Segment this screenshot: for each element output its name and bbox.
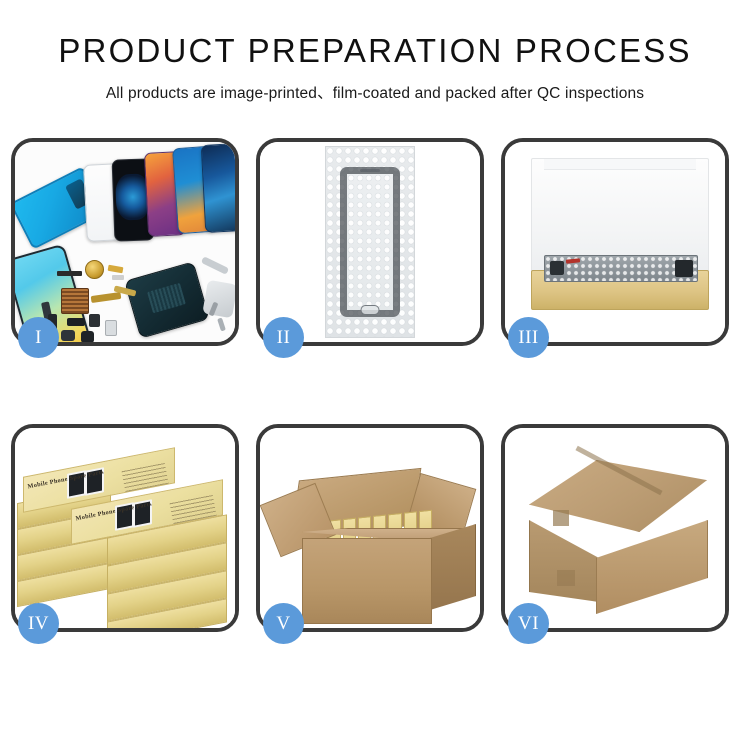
process-step-5[interactable]: V <box>256 424 484 632</box>
small-part-2 <box>67 318 85 326</box>
small-part-5 <box>81 331 94 342</box>
small-part-3 <box>89 314 100 327</box>
misc-part-cluster <box>202 280 235 319</box>
carton-side-panel <box>430 524 476 610</box>
gold-coil-part <box>85 260 104 279</box>
step-1-image <box>15 142 235 342</box>
flex-cable-1 <box>91 292 122 303</box>
earpiece-slot <box>360 169 380 172</box>
process-step-2[interactable]: II <box>256 138 484 346</box>
page-subtitle: All products are image-printed、film-coat… <box>0 81 750 103</box>
step-badge-3: III <box>508 317 549 358</box>
bubble-wrap-scene <box>260 142 480 342</box>
wrapped-screen-assembly <box>340 167 400 317</box>
page-header: PRODUCT PREPARATION PROCESS All products… <box>0 0 750 103</box>
step-badge-5: V <box>263 603 304 644</box>
process-step-6[interactable]: VI <box>501 424 729 632</box>
step-badge-4: IV <box>18 603 59 644</box>
step-2-image <box>260 142 480 342</box>
silver-clip-part <box>112 275 124 280</box>
process-step-4[interactable]: Mobile Phone Spare Parts Mobile Phone Sp… <box>11 424 239 632</box>
small-part-4 <box>61 330 75 341</box>
step-5-image <box>260 428 480 628</box>
process-step-grid: I II III <box>11 138 739 632</box>
step-badge-1: I <box>18 317 59 358</box>
sealed-carton-left-face <box>529 520 599 602</box>
screw-2 <box>217 318 226 332</box>
home-button <box>361 305 380 315</box>
process-step-1[interactable]: I <box>11 138 239 346</box>
black-bar-part <box>57 271 82 276</box>
phone-parts-scene <box>15 142 235 342</box>
carton-front-panel <box>302 538 432 624</box>
small-part-6 <box>105 320 117 336</box>
carton-tape-patch-1 <box>553 510 569 526</box>
sealed-carton-right-face <box>596 520 708 614</box>
copper-chip-grid <box>61 288 89 314</box>
carton-tape-patch-2 <box>557 570 575 586</box>
step-badge-2: II <box>263 317 304 358</box>
page-title: PRODUCT PREPARATION PROCESS <box>0 34 750 69</box>
step-badge-6: VI <box>508 603 549 644</box>
pry-tool <box>201 256 229 275</box>
gold-connector-part <box>108 265 124 274</box>
stacked-boxes-scene: Mobile Phone Spare Parts Mobile Phone Sp… <box>15 428 235 628</box>
process-step-3[interactable]: III <box>501 138 729 346</box>
open-kraft-box-scene <box>505 142 725 342</box>
open-carton-scene <box>260 428 480 628</box>
kraft-box-tray <box>531 270 709 310</box>
sealed-carton-scene <box>505 428 725 628</box>
step-3-image <box>505 142 725 342</box>
deep-blue-phone <box>201 143 235 233</box>
step-4-image: Mobile Phone Spare Parts Mobile Phone Sp… <box>15 428 235 628</box>
phone-back-housing <box>124 261 210 339</box>
step-6-image <box>505 428 725 628</box>
